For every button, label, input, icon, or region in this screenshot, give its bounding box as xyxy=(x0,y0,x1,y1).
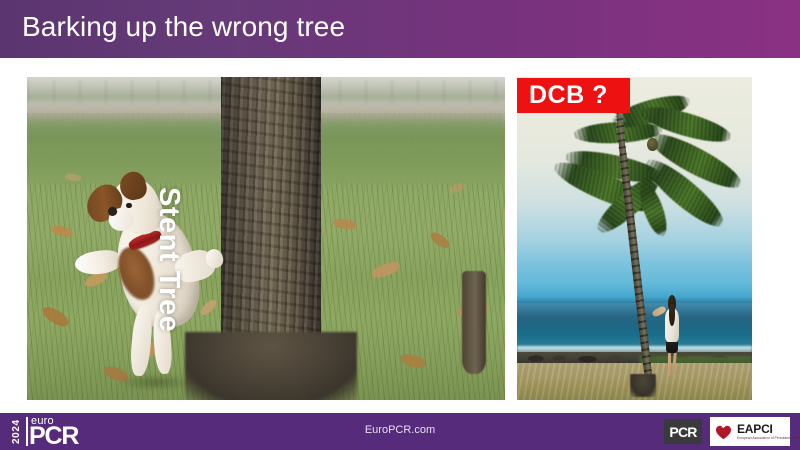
dcb-badge: DCB ? xyxy=(517,78,630,113)
image-dog-tree: Stent Tree xyxy=(27,77,505,400)
stent-tree-caption: Stent Tree xyxy=(152,187,185,332)
person-leg xyxy=(668,351,671,375)
eapci-logo: EAPCI European Association of Percutaneo… xyxy=(710,417,790,446)
pcr-badge-logo: PCR xyxy=(664,419,702,444)
secondary-tree-trunk xyxy=(462,271,486,374)
palm-trunk-base xyxy=(630,374,656,397)
eapci-logo-name: EAPCI xyxy=(737,423,800,435)
person-leg xyxy=(672,351,677,374)
person-hair xyxy=(669,304,675,326)
image-palm-beach: DCB ? xyxy=(517,77,752,400)
page-title: Barking up the wrong tree xyxy=(22,11,345,43)
dcb-badge-label: DCB ? xyxy=(517,81,608,110)
europcr-logo-divider xyxy=(26,417,28,446)
dog-shadow xyxy=(116,374,195,391)
europcr-logo-pcr: PCR xyxy=(29,424,78,449)
dog-eye xyxy=(126,203,131,209)
pcr-badge-label: PCR xyxy=(669,424,696,440)
slide-header: Barking up the wrong tree xyxy=(0,0,800,58)
heart-icon xyxy=(714,423,733,441)
beach-background xyxy=(517,77,752,400)
dog-hind-leg xyxy=(129,305,154,377)
eapci-logo-text: EAPCI European Association of Percutaneo… xyxy=(737,423,800,440)
park-background xyxy=(27,77,505,400)
eapci-logo-subtitle: European Association of Percutaneous Car… xyxy=(737,437,800,440)
slide: Barking up the wrong tree xyxy=(0,0,800,450)
europcr-logo: 2024 euro PCR xyxy=(10,415,110,448)
sea-highlight xyxy=(517,303,752,342)
dog-tail xyxy=(74,248,123,277)
europcr-logo-year: 2024 xyxy=(10,416,24,447)
person-at-palm xyxy=(659,290,685,374)
